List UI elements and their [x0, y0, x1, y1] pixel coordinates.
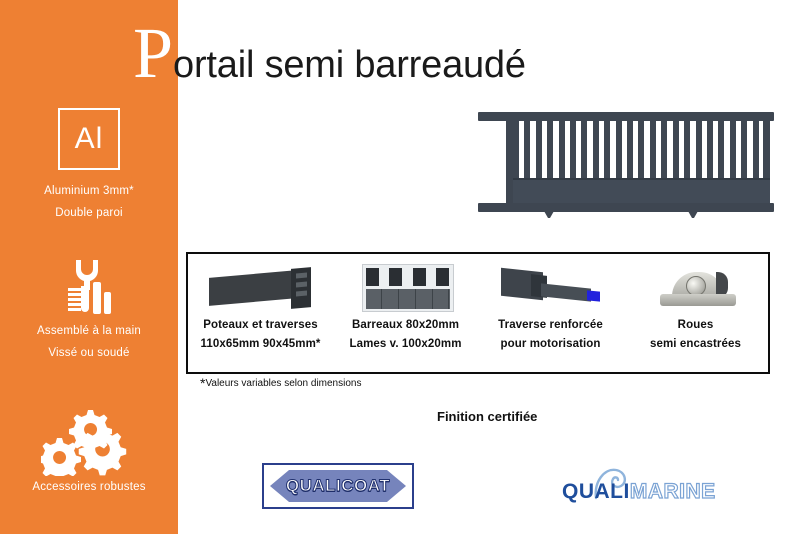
aluminium-symbol-text: Al [75, 124, 104, 154]
footnote: *Valeurs variables selon dimensions [200, 378, 361, 389]
gate-left-frame [506, 112, 513, 212]
product-posts-line1: Poteaux et traverses [188, 316, 333, 335]
hand-wrench-icon [54, 258, 124, 320]
gate-foot [688, 211, 698, 218]
feature-accessories-line1: Accessoires robustes [0, 476, 178, 498]
product-bars-line1: Barreaux 80x20mm [333, 316, 478, 335]
page-title: Portail semi barreaudé [133, 18, 526, 88]
gate-bottom-panel [513, 178, 770, 206]
qualicoat-logo-text: QUALICOAT [286, 476, 390, 496]
product-crossbar-line2: pour motorisation [478, 335, 623, 354]
qualimarine-logo-text: QUALIMARINE [562, 480, 716, 504]
product-item-posts: Poteaux et traverses 110x65mm 90x45mm* [188, 254, 333, 372]
product-wheels-line2: semi encastrées [623, 335, 768, 354]
gate-bottom-rail [478, 203, 774, 212]
title-remainder: ortail semi barreaudé [173, 44, 526, 86]
sliding-gate-illustration [478, 108, 778, 218]
product-spec-box: Poteaux et traverses 110x65mm 90x45mm* B… [186, 252, 770, 374]
aluminium-square-icon: Al [58, 108, 120, 170]
product-crossbar-line1: Traverse renforcée [478, 316, 623, 335]
feature-assembly-line2: Vissé ou soudé [0, 342, 178, 364]
gears-icon [41, 408, 137, 476]
reinforced-crossbar-icon [491, 260, 611, 316]
feature-aluminium-line2: Double paroi [0, 202, 178, 224]
product-bars-line2: Lames v. 100x20mm [333, 335, 478, 354]
qualimarine-text-part2: MARINE [630, 480, 716, 503]
product-wheels-line1: Roues [623, 316, 768, 335]
post-profile-icon [201, 260, 321, 316]
sidebar-feature-assembly: Assemblé à la main Vissé ou soudé [0, 258, 178, 364]
qualicoat-logo: QUALICOAT [262, 463, 414, 509]
poster-root: Al Aluminium 3mm* Double paroi Assemblé … [0, 0, 800, 534]
gate-foot [544, 211, 554, 218]
bars-sample-icon [346, 260, 466, 316]
qualimarine-logo: QUALIMARINE [562, 466, 727, 510]
gate-bars [513, 118, 770, 178]
certification-heading: Finition certifiée [437, 409, 537, 424]
wheel-bearing-icon [636, 260, 756, 316]
sidebar-feature-accessories: Accessoires robustes [0, 408, 178, 498]
title-capital-letter: P [133, 13, 173, 93]
feature-assembly-line1: Assemblé à la main [0, 320, 178, 342]
product-item-bars: Barreaux 80x20mm Lames v. 100x20mm [333, 254, 478, 372]
footnote-text: Valeurs variables selon dimensions [205, 378, 361, 389]
feature-aluminium-line1: Aluminium 3mm* [0, 180, 178, 202]
qualimarine-text-part1: QUALI [562, 480, 630, 503]
product-posts-line2: 110x65mm 90x45mm* [188, 335, 333, 354]
product-item-wheels: Roues semi encastrées [623, 254, 768, 372]
product-item-crossbar: Traverse renforcée pour motorisation [478, 254, 623, 372]
sidebar-feature-aluminium: Al Aluminium 3mm* Double paroi [0, 108, 178, 224]
